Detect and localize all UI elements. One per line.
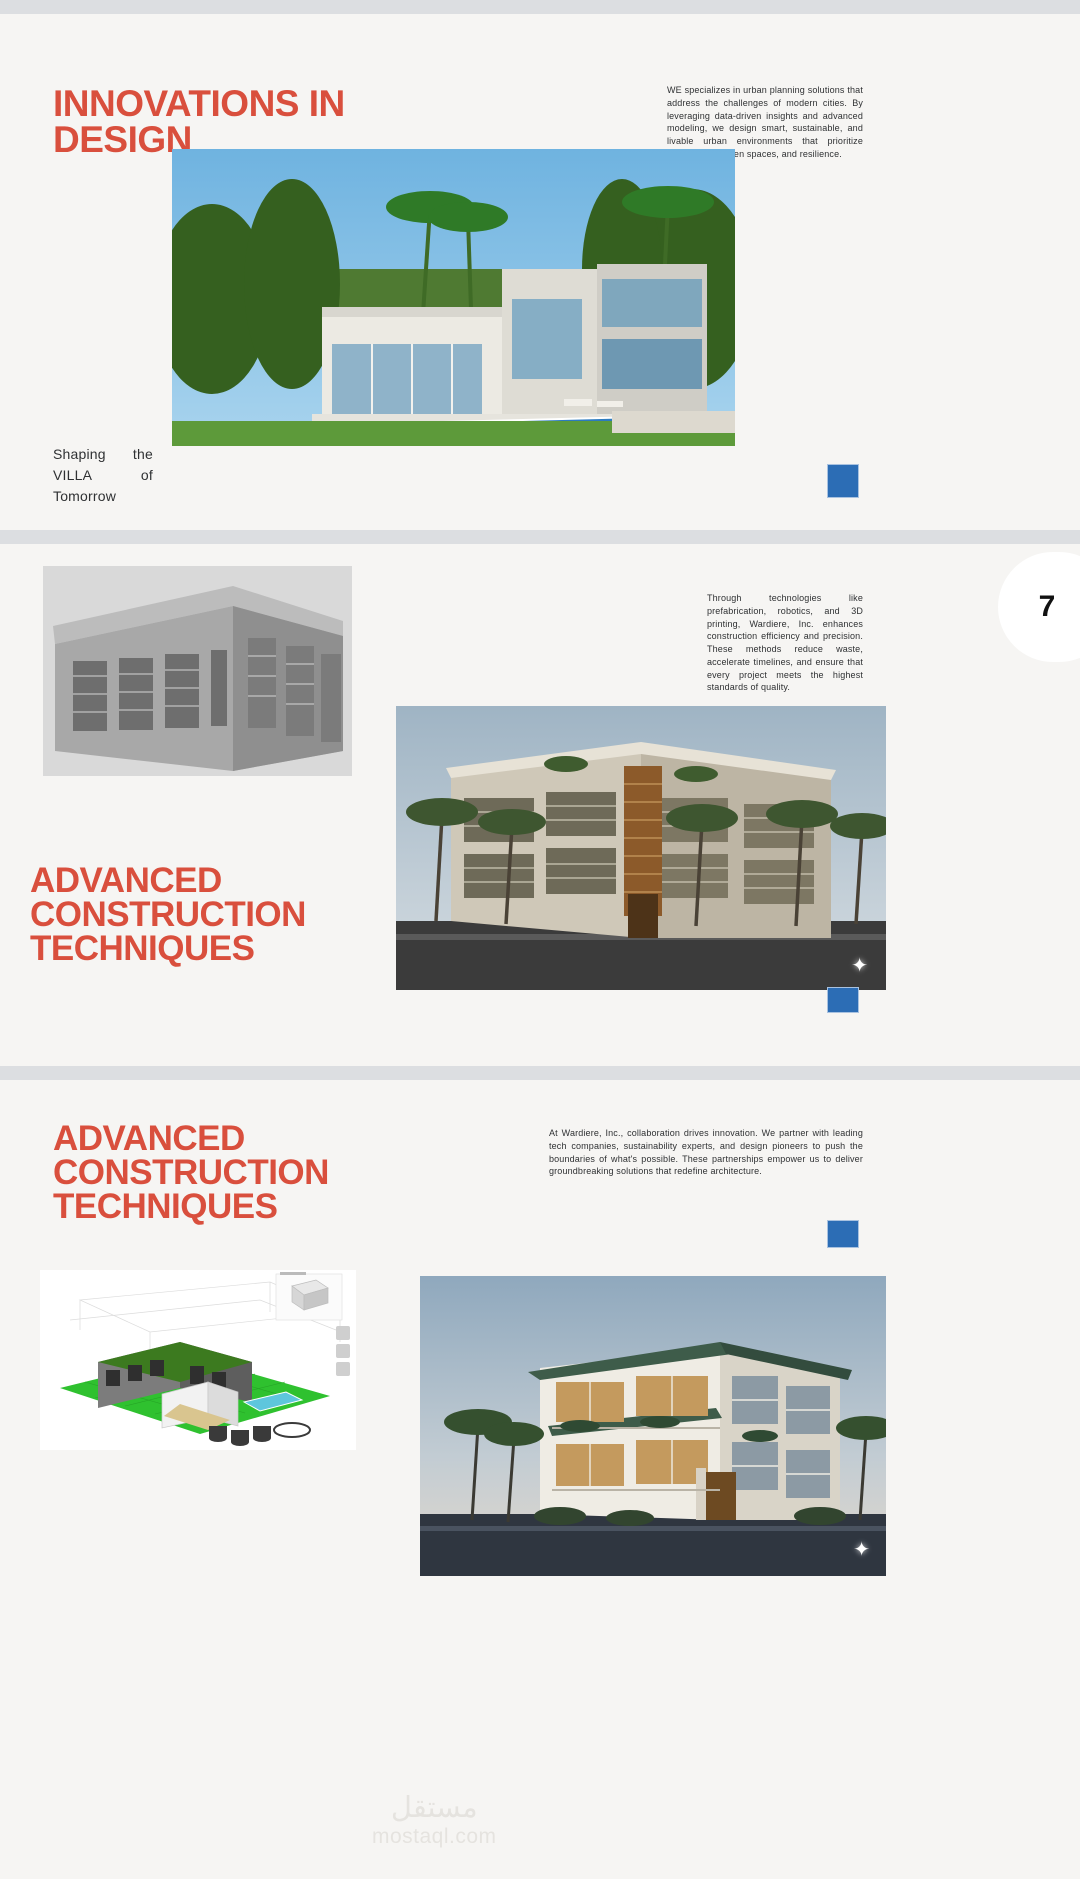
bim-model-graphic <box>40 1270 356 1450</box>
page-title-slide3: ADVANCED CONSTRUCTION TECHNIQUES <box>53 1122 423 1224</box>
villa-photo <box>172 149 735 446</box>
sparkle-icon: ✦ <box>851 956 868 976</box>
page-number-badge: 7 <box>998 552 1080 662</box>
page-title-slide2: ADVANCED CONSTRUCTION TECHNIQUES <box>30 864 390 966</box>
slide-advanced-construction-2: ADVANCED CONSTRUCTION TECHNIQUES At Ward… <box>0 1080 1080 1879</box>
bim-model-image <box>40 1270 356 1450</box>
accent-square-slide1 <box>827 464 859 498</box>
page-title-slide1: INNOVATIONS IN DESIGN <box>53 86 473 158</box>
house-dusk-photo: ✦ <box>420 1276 886 1576</box>
watermark: مستقل mostaql.com <box>372 1794 497 1849</box>
watermark-latin: mostaql.com <box>372 1825 497 1849</box>
watermark-arabic: مستقل <box>391 1794 478 1823</box>
building-exterior-photo: ✦ <box>396 706 886 990</box>
accent-square-slide3 <box>827 1220 859 1248</box>
building-exterior-graphic <box>396 706 886 990</box>
slide-advanced-construction-1: Through technologies like prefabrication… <box>0 544 1080 1066</box>
massing-model-image <box>43 566 352 776</box>
body-paragraph-slide2: Through technologies like prefabrication… <box>707 592 863 694</box>
section-divider-1 <box>0 530 1080 544</box>
section-divider-2 <box>0 1066 1080 1080</box>
villa-photo-graphic <box>172 149 735 446</box>
sparkle-icon: ✦ <box>853 1540 870 1560</box>
accent-square-slide2 <box>827 987 859 1013</box>
villa-caption: Shaping the VILLA of Tomorrow <box>53 444 153 507</box>
house-dusk-graphic <box>420 1276 886 1576</box>
section-divider-top <box>0 0 1080 14</box>
massing-model-graphic <box>43 566 352 776</box>
page-number: 7 <box>1039 590 1074 624</box>
slide-innovations-in-design: INNOVATIONS IN DESIGN WE specializes in … <box>0 14 1080 530</box>
body-paragraph-slide3: At Wardiere, Inc., collaboration drives … <box>549 1127 863 1178</box>
